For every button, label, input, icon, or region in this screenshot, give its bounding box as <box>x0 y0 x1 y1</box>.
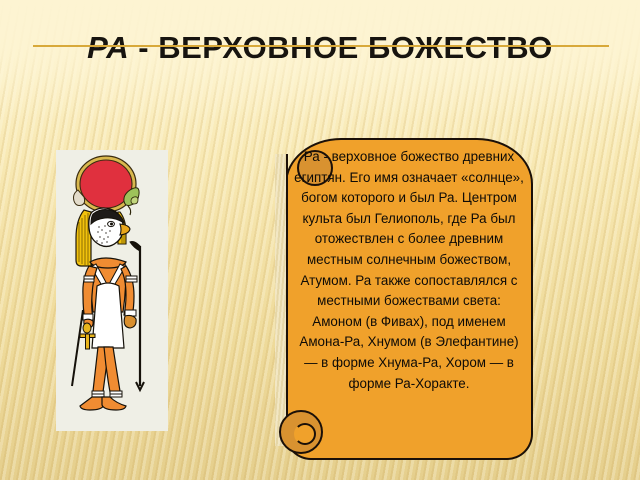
page-title: РА - ВЕРХОВНОЕ БОЖЕСТВО <box>87 30 553 65</box>
presentation-slide: РА - ВЕРХОВНОЕ БОЖЕСТВО <box>0 0 640 480</box>
page-title-lead: РА <box>87 30 129 65</box>
page-title-block: РА - ВЕРХОВНОЕ БОЖЕСТВО <box>0 28 640 68</box>
scroll-body-text: Ра - верховное божество древних египтян.… <box>293 147 525 394</box>
scroll-left-edge-strip <box>275 154 288 446</box>
scroll-text-panel: Ра - верховное божество древних египтян.… <box>275 138 533 460</box>
title-underline-rule <box>33 45 609 47</box>
ra-illustration <box>56 150 168 431</box>
scroll-curl-bottom-icon <box>279 410 323 454</box>
ra-figure-svg <box>56 150 168 431</box>
page-title-rest: - ВЕРХОВНОЕ БОЖЕСТВО <box>129 30 553 65</box>
